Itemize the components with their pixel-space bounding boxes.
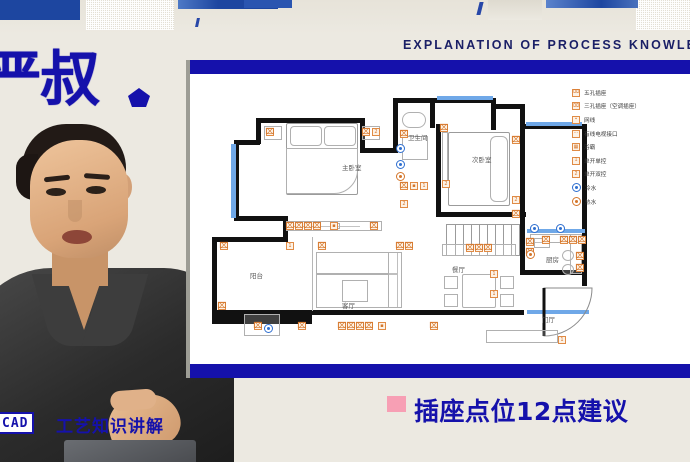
- socket-marker: [365, 322, 373, 330]
- sofa: [316, 252, 398, 274]
- wall-segment: [310, 310, 524, 315]
- socket-marker: [400, 130, 408, 138]
- wall-frame-shadow: [488, 0, 542, 20]
- legend-item-double-switch: 2 单开双控: [572, 168, 684, 182]
- slide-accent-bar-top: [190, 60, 690, 74]
- wall-texture-panel-right: [636, 0, 690, 30]
- wall-art-block-4: [546, 0, 638, 8]
- switch-marker: 2: [512, 196, 520, 204]
- room-label-bathroom: 卫生间: [408, 132, 428, 142]
- socket-marker: [400, 182, 408, 190]
- socket-marker: [512, 136, 520, 144]
- dining-chair: [500, 276, 514, 289]
- bed-second-quilt: [490, 136, 508, 202]
- wall-segment: [256, 118, 261, 144]
- legend-label: 五孔插座: [584, 89, 606, 97]
- socket-marker: [430, 322, 438, 330]
- single-switch-icon: 1: [572, 157, 580, 165]
- legend-item-tv-cable-port: ⋯ 有线电视接口: [572, 127, 684, 141]
- floor-drain-icon: ▦: [572, 143, 580, 151]
- side-cabinet: [388, 252, 402, 308]
- socket-marker: [295, 222, 303, 230]
- legend-label: 单开单控: [584, 157, 606, 165]
- bathtub: [402, 112, 426, 128]
- pink-square-bullet-icon: [387, 396, 406, 412]
- hot-water-marker-icon: [396, 172, 405, 181]
- partition: [312, 237, 313, 311]
- wardrobe-second: [442, 132, 448, 182]
- wall-segment: [582, 272, 587, 286]
- switch-marker: 1: [558, 336, 566, 344]
- presenter-mouth: [62, 230, 92, 244]
- socket-marker: [318, 242, 326, 250]
- socket-marker: [512, 210, 520, 218]
- five-hole-socket-icon: ⌧: [572, 89, 580, 97]
- room-label-master-bedroom: 主卧室: [342, 162, 362, 172]
- switch-marker: 1: [420, 182, 428, 190]
- legend-item-cold-water: 冷水: [572, 181, 684, 195]
- cold-water-marker-icon: [396, 160, 405, 169]
- legend-label: 浴霸: [584, 143, 595, 151]
- legend-label: 冷水: [585, 184, 596, 192]
- washer-water-point-icon: [264, 324, 273, 333]
- network-marker: [378, 322, 386, 330]
- wall-segment: [212, 237, 217, 315]
- switch-marker: 2: [442, 180, 450, 188]
- stove-burner: [562, 264, 574, 275]
- room-label-balcony: 阳台: [250, 270, 263, 280]
- wall-segment: [234, 216, 288, 221]
- wall-segment: [491, 98, 496, 130]
- wall-segment: [393, 98, 435, 103]
- socket-marker: [313, 222, 321, 230]
- window-wall: [437, 96, 493, 100]
- dining-chair: [444, 294, 458, 307]
- wall-art-block-3: [244, 0, 292, 8]
- laptop-lid: [64, 440, 196, 462]
- wall-segment: [520, 229, 525, 275]
- legend-label: 网线: [584, 116, 595, 124]
- legend-item-bath-heater: ▦ 浴霸: [572, 140, 684, 154]
- three-hole-socket-icon: ⌧: [572, 102, 580, 110]
- legend-item-single-switch: 1 单开单控: [572, 154, 684, 168]
- network-marker: [330, 222, 338, 230]
- socket-marker: [569, 236, 577, 244]
- socket-marker: [560, 236, 568, 244]
- socket-marker: [286, 222, 294, 230]
- cold-water-icon: [572, 183, 581, 192]
- socket-marker: [484, 244, 492, 252]
- cold-water-marker-icon: [396, 144, 405, 153]
- switch-marker: 2: [372, 128, 380, 136]
- coffee-table: [342, 280, 368, 302]
- room-label-second-bedroom: 次卧室: [472, 154, 492, 164]
- socket-marker: [254, 322, 262, 330]
- wall-texture-panel-left: [86, 0, 174, 30]
- socket-marker: [298, 322, 306, 330]
- cold-water-marker-icon: [556, 224, 565, 233]
- presenter-eye-left: [46, 188, 66, 196]
- socket-marker: [578, 236, 586, 244]
- presenter-figure: [0, 96, 212, 462]
- room-label-entry-hall: 门厅: [542, 314, 555, 324]
- room-label-dining-room: 餐厅: [452, 264, 465, 274]
- socket-marker: [440, 124, 448, 132]
- wall-segment: [491, 104, 525, 109]
- socket-marker: [304, 222, 312, 230]
- pillow-left: [290, 126, 322, 146]
- wall-art-block-1: [0, 0, 80, 20]
- cad-caption: 工艺知识讲解: [56, 412, 164, 437]
- legend-label: 三孔插座（空调插座）: [584, 102, 640, 110]
- socket-marker: [542, 236, 550, 244]
- legend-item-hot-water: 热水: [572, 195, 684, 209]
- room-label-living-room: 客厅: [342, 300, 355, 310]
- socket-marker: [526, 238, 534, 246]
- socket-marker: [576, 252, 584, 260]
- socket-marker: [466, 244, 474, 252]
- presenter-nose: [68, 200, 82, 222]
- dining-chair: [444, 276, 458, 289]
- legend-item-network-port: ▪ 网线: [572, 113, 684, 127]
- socket-marker: [220, 242, 228, 250]
- legend-label: 单开双控: [584, 170, 606, 178]
- socket-marker: [338, 322, 346, 330]
- footer-headline: 插座点位12点建议: [414, 392, 628, 428]
- socket-marker: [576, 264, 584, 272]
- cold-water-marker-icon: [530, 224, 539, 233]
- brand-name-overlay: 严叔: [0, 50, 98, 110]
- window-wall: [231, 144, 236, 218]
- switch-marker: 1: [490, 290, 498, 298]
- tv-cable-port-icon: ⋯: [572, 130, 580, 138]
- plan-legend: ⌧ 五孔插座 ⌧ 三孔插座（空调插座） ▪ 网线 ⋯ 有线电视接口 ▦ 浴霸 1…: [572, 86, 684, 208]
- network-marker: [410, 182, 418, 190]
- socket-marker: [475, 244, 483, 252]
- switch-marker: 1: [490, 270, 498, 278]
- network-port-icon: ▪: [572, 116, 580, 124]
- slide-accent-bar-bottom: [190, 364, 690, 378]
- switch-marker: 1: [286, 242, 294, 250]
- wall-segment: [436, 124, 441, 216]
- hot-water-icon: [572, 197, 581, 206]
- legend-item-three-hole-socket: ⌧ 三孔插座（空调插座）: [572, 100, 684, 114]
- socket-marker: [218, 302, 226, 310]
- cad-badge-label: CAD: [2, 416, 28, 431]
- hot-water-marker-icon: [526, 250, 535, 259]
- socket-marker: [396, 242, 404, 250]
- pillow-right: [324, 126, 356, 146]
- legend-label: 热水: [585, 198, 596, 206]
- entry-shoe-cabinet: [486, 330, 558, 343]
- cad-badge: CAD: [0, 412, 34, 434]
- switch-marker: 2: [400, 200, 408, 208]
- socket-marker: [362, 128, 370, 136]
- legend-label: 有线电视接口: [584, 130, 618, 138]
- room-label-kitchen: 厨房: [546, 254, 559, 264]
- socket-marker: [266, 128, 274, 136]
- dining-chair: [500, 294, 514, 307]
- socket-marker: [370, 222, 378, 230]
- presenter-eye-right: [86, 186, 106, 194]
- stove-burner: [562, 250, 574, 261]
- double-switch-icon: 2: [572, 170, 580, 178]
- socket-marker: [405, 242, 413, 250]
- english-strapline: EXPLANATION OF PROCESS KNOWLEDG: [403, 38, 690, 52]
- socket-marker: [356, 322, 364, 330]
- socket-marker: [347, 322, 355, 330]
- legend-item-five-hole-socket: ⌧ 五孔插座: [572, 86, 684, 100]
